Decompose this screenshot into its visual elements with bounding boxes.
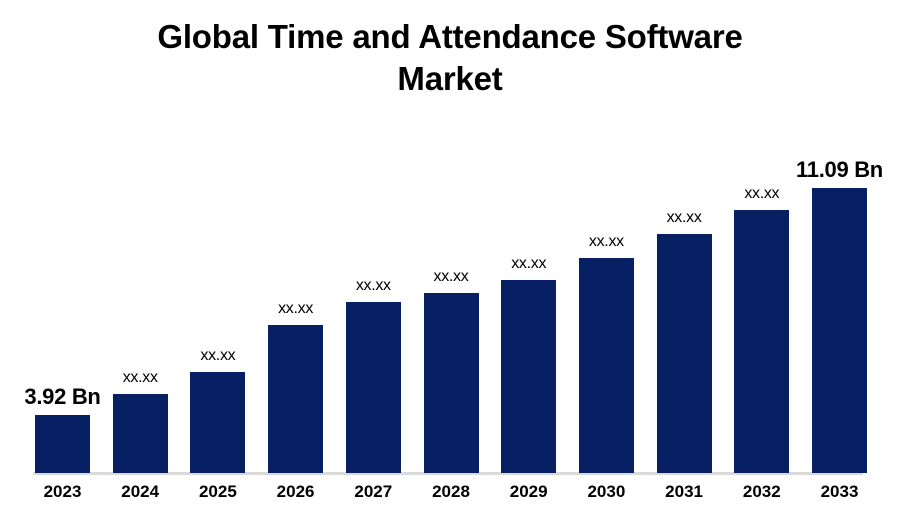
- bar-2031: [657, 234, 712, 473]
- bar-value-label-2026: xx.xx: [226, 300, 366, 318]
- category-label-2031: 2031: [639, 482, 729, 502]
- bar-value-label-2029: xx.xx: [459, 255, 599, 273]
- bar-chart: Global Time and Attendance Software Mark…: [0, 0, 900, 525]
- bar-2033: [812, 188, 867, 473]
- bar-2029: [501, 280, 556, 473]
- bar-2027: [346, 302, 401, 473]
- category-label-2033: 2033: [795, 482, 885, 502]
- bar-value-label-2024: xx.xx: [70, 369, 210, 387]
- bar-2023: [35, 415, 90, 473]
- bar-value-label-2030: xx.xx: [536, 233, 676, 251]
- category-label-2023: 2023: [18, 482, 108, 502]
- category-label-2026: 2026: [251, 482, 341, 502]
- plot-area: 3.92 Bnxx.xxxx.xxxx.xxxx.xxxx.xxxx.xxxx.…: [0, 0, 900, 525]
- bar-2030: [579, 258, 634, 473]
- bar-value-label-2031: xx.xx: [614, 209, 754, 227]
- bar-2028: [424, 293, 479, 473]
- bar-value-label-2032: xx.xx: [692, 185, 832, 203]
- category-label-2029: 2029: [484, 482, 574, 502]
- category-label-2030: 2030: [561, 482, 651, 502]
- category-label-2032: 2032: [717, 482, 807, 502]
- category-label-2025: 2025: [173, 482, 263, 502]
- bar-2032: [734, 210, 789, 473]
- bar-2025: [190, 372, 245, 473]
- category-label-2028: 2028: [406, 482, 496, 502]
- bar-value-label-2025: xx.xx: [148, 347, 288, 365]
- bar-value-label-2023: 3.92 Bn: [0, 384, 133, 410]
- category-label-2027: 2027: [328, 482, 418, 502]
- category-label-2024: 2024: [95, 482, 185, 502]
- bar-value-label-2033: 11.09 Bn: [770, 157, 900, 183]
